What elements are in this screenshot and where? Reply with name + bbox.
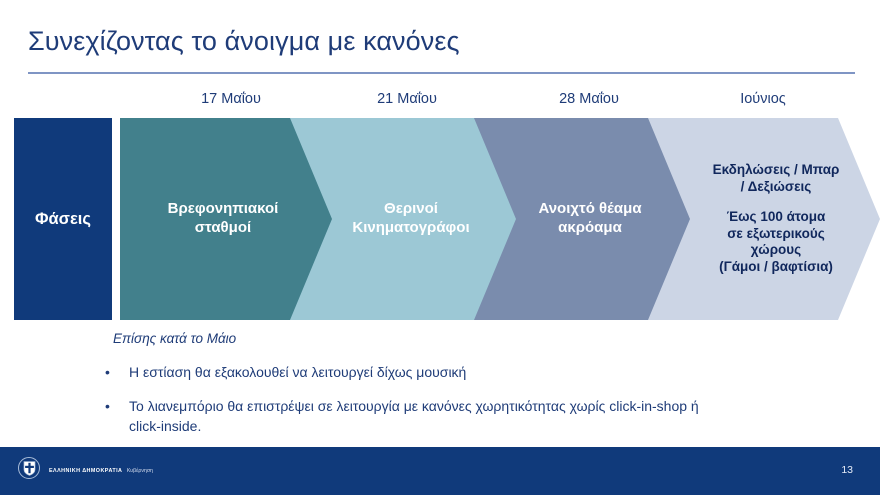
timeline-stage-3-line-1: Ανοιχτό θέαμα — [538, 200, 641, 217]
footer-subtitle: Κυβέρνηση — [127, 468, 153, 474]
timeline-stage-1-line-2: σταθμοί — [195, 219, 251, 236]
timeline-phases-label: Φάσεις — [35, 209, 91, 230]
bullet-marker: • — [105, 396, 129, 437]
timeline-stage-4-line-5: χώρους — [751, 242, 801, 257]
greek-coat-of-arms-icon — [18, 457, 40, 479]
timeline-stage-4-line-2: / Δεξιώσεις — [741, 179, 812, 194]
timeline-stage-1-text: Βρεφονηπιακοί σταθμοί — [150, 200, 313, 238]
timeline-stage-2-line-1: Θερινοί — [384, 200, 438, 217]
timeline-stage-2-line-2: Κινηματογράφοι — [352, 219, 469, 236]
footer-organisation: ΕΛΛΗΝΙΚΗ ΔΗΜΟΚΡΑΤΙΑ — [49, 468, 122, 474]
timeline-stage-2-text: Θερινοί Κινηματογράφοι — [312, 200, 503, 238]
list-item: • Το λιανεμπόριο θα επιστρέψει σε λειτου… — [105, 396, 729, 437]
timeline-stage-4-text: Εκδηλώσεις / Μπαρ / Δεξιώσεις Έως 100 άτ… — [669, 162, 860, 276]
footer-brand-text: ΕΛΛΗΝΙΚΗ ΔΗΜΟΚΡΑΤΙΑ Κυβέρνηση — [49, 458, 153, 478]
timeline-stage-4-line-4: σε εξωτερικούς — [727, 226, 825, 241]
timeline-stage-3-line-2: ακρόαμα — [558, 219, 622, 236]
timeline-stage-4-spacer — [713, 196, 840, 209]
timeline-date-4: Ιούνιος — [652, 91, 874, 107]
list-item-text: Το λιανεμπόριο θα επιστρέψει σε λειτουργ… — [129, 396, 729, 437]
page-number: 13 — [841, 464, 853, 476]
footer-branding: ΕΛΛΗΝΙΚΗ ΔΗΜΟΚΡΑΤΙΑ Κυβέρνηση — [18, 457, 153, 479]
timeline-stage-4-line-6: (Γάμοι / βαφτίσια) — [719, 259, 833, 274]
timeline-phases-header: Φάσεις — [14, 118, 112, 320]
list-item-text: Η εστίαση θα εξακολουθεί να λειτουργεί δ… — [129, 362, 466, 382]
page-title: Συνεχίζοντας το άνοιγμα με κανόνες — [28, 26, 460, 57]
timeline-diagram: Φάσεις Βρεφονηπιακοί σταθμοί Θερινοί Κιν… — [0, 118, 880, 320]
timeline-stage-3-text: Ανοιχτό θέαμα ακρόαμα — [498, 200, 675, 238]
presentation-slide: Συνεχίζοντας το άνοιγμα με κανόνες 17 Μα… — [0, 0, 880, 495]
title-divider — [28, 72, 855, 74]
timeline-stage-1-line-1: Βρεφονηπιακοί — [168, 200, 279, 217]
bullet-marker: • — [105, 362, 129, 382]
slide-footer: ΕΛΛΗΝΙΚΗ ΔΗΜΟΚΡΑΤΙΑ Κυβέρνηση 13 — [0, 447, 880, 495]
list-item: • Η εστίαση θα εξακολουθεί να λειτουργεί… — [105, 362, 466, 382]
notes-heading: Επίσης κατά το Μάιο — [113, 331, 236, 346]
timeline-stage-4-line-3: Έως 100 άτομα — [727, 209, 826, 224]
timeline-stage-4-line-1: Εκδηλώσεις / Μπαρ — [713, 162, 840, 177]
